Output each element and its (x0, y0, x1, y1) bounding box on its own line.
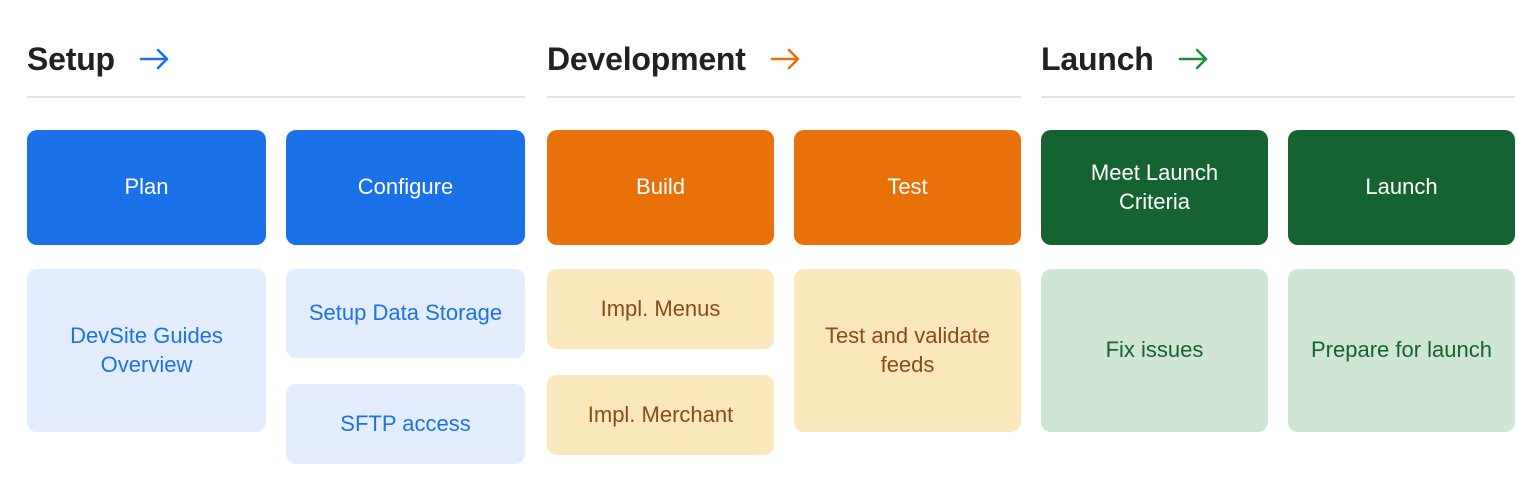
card-fix-issues[interactable]: Fix issues (1041, 269, 1268, 432)
subcards-plan: DevSite Guides Overview (27, 269, 266, 432)
phase-column-development: Development Build Impl. Menus Impl. Merc… (547, 0, 1021, 484)
phase-header-development: Development (547, 0, 1021, 90)
track-launch: Launch Prepare for launch (1288, 130, 1515, 432)
phase-divider-launch (1041, 96, 1515, 98)
card-build[interactable]: Build (547, 130, 774, 245)
card-sftp-access[interactable]: SFTP access (286, 384, 525, 464)
track-test: Test Test and validate feeds (794, 130, 1021, 432)
subcards-meet-launch-criteria: Fix issues (1041, 269, 1268, 432)
phase-column-setup: Setup Plan DevSite Guides Overview Confi… (27, 0, 525, 484)
phase-divider-development (547, 96, 1021, 98)
card-setup-data-storage[interactable]: Setup Data Storage (286, 269, 525, 358)
track-configure: Configure Setup Data Storage SFTP access (286, 130, 525, 432)
phase-column-launch: Launch Meet Launch Criteria Fix issues L… (1041, 0, 1515, 484)
subcards-test: Test and validate feeds (794, 269, 1021, 432)
phase-title-development: Development (547, 43, 746, 75)
phase-title-launch: Launch (1041, 43, 1154, 75)
phase-cards-development: Build Impl. Menus Impl. Merchant Test Te… (547, 130, 1021, 432)
arrow-right-icon (1178, 47, 1212, 71)
subcards-configure: Setup Data Storage SFTP access (286, 269, 525, 464)
card-configure[interactable]: Configure (286, 130, 525, 245)
subcards-build: Impl. Menus Impl. Merchant (547, 269, 774, 455)
roadmap-board: Setup Plan DevSite Guides Overview Confi… (0, 0, 1518, 484)
phase-cards-setup: Plan DevSite Guides Overview Configure S… (27, 130, 525, 432)
track-meet-launch-criteria: Meet Launch Criteria Fix issues (1041, 130, 1268, 432)
phase-title-setup: Setup (27, 43, 115, 75)
card-impl-menus[interactable]: Impl. Menus (547, 269, 774, 349)
card-plan[interactable]: Plan (27, 130, 266, 245)
track-build: Build Impl. Menus Impl. Merchant (547, 130, 774, 432)
phase-cards-launch: Meet Launch Criteria Fix issues Launch P… (1041, 130, 1515, 432)
card-impl-merchant[interactable]: Impl. Merchant (547, 375, 774, 455)
arrow-right-icon (139, 47, 173, 71)
arrow-right-icon (770, 47, 804, 71)
card-meet-launch-criteria[interactable]: Meet Launch Criteria (1041, 130, 1268, 245)
card-devsite-guides-overview[interactable]: DevSite Guides Overview (27, 269, 266, 432)
card-test-and-validate-feeds[interactable]: Test and validate feeds (794, 269, 1021, 432)
card-test[interactable]: Test (794, 130, 1021, 245)
phase-divider-setup (27, 96, 525, 98)
subcards-launch: Prepare for launch (1288, 269, 1515, 432)
card-prepare-for-launch[interactable]: Prepare for launch (1288, 269, 1515, 432)
phase-header-setup: Setup (27, 0, 525, 90)
phase-header-launch: Launch (1041, 0, 1515, 90)
track-plan: Plan DevSite Guides Overview (27, 130, 266, 432)
card-launch[interactable]: Launch (1288, 130, 1515, 245)
